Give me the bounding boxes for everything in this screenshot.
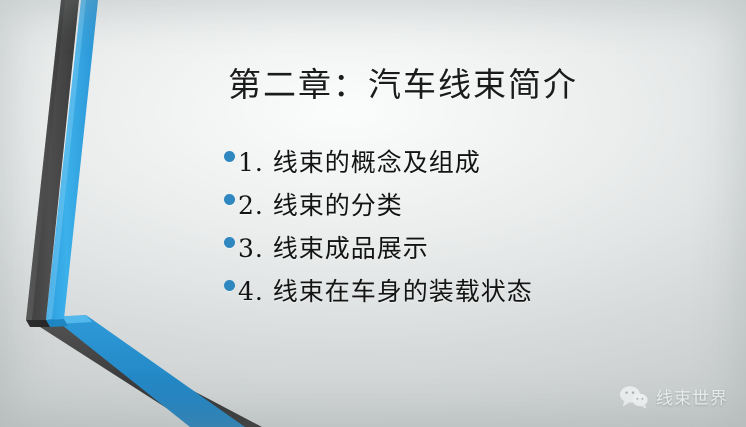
list-item-label: 3. 线束成品展示 (238, 234, 429, 264)
bullet-list: 1. 线束的概念及组成 2. 线束的分类 3. 线束成品展示 4. 线束在车身的… (224, 148, 694, 320)
frame-blue-band-gloss (46, 0, 86, 320)
frame-blue-fold-highlight (52, 315, 92, 324)
watermark-label: 线束世界 (656, 384, 728, 409)
slide-canvas: 第二章：汽车线束简介 1. 线束的概念及组成 2. 线束的分类 3. 线束成品展… (0, 0, 746, 427)
frame-dark-band-cap (26, 320, 50, 327)
list-item[interactable]: 3. 线束成品展示 (224, 234, 694, 277)
list-item[interactable]: 4. 线束在车身的装载状态 (224, 277, 694, 320)
wechat-icon (619, 385, 649, 409)
bullet-dot-icon (224, 151, 235, 162)
list-item-label: 2. 线束的分类 (238, 191, 403, 221)
bullet-dot-icon (224, 194, 235, 205)
bullet-dot-icon (224, 237, 235, 248)
list-item[interactable]: 1. 线束的概念及组成 (224, 148, 694, 191)
frame-dark-band-lower (26, 317, 262, 427)
page-title: 第二章：汽车线束简介 (0, 58, 746, 106)
bullet-dot-icon (224, 280, 235, 291)
list-item-label: 4. 线束在车身的装载状态 (238, 277, 533, 307)
frame-dark-band-edge (26, 0, 65, 320)
frame-dark-band-upper (26, 0, 79, 320)
list-item-label: 1. 线束的概念及组成 (238, 148, 481, 178)
frame-blue-band-upper (46, 0, 98, 320)
list-item[interactable]: 2. 线束的分类 (224, 191, 694, 234)
watermark: 线束世界 (619, 384, 728, 409)
frame-blue-band-lower (52, 315, 245, 427)
frame-blue-band-cap (46, 319, 68, 327)
